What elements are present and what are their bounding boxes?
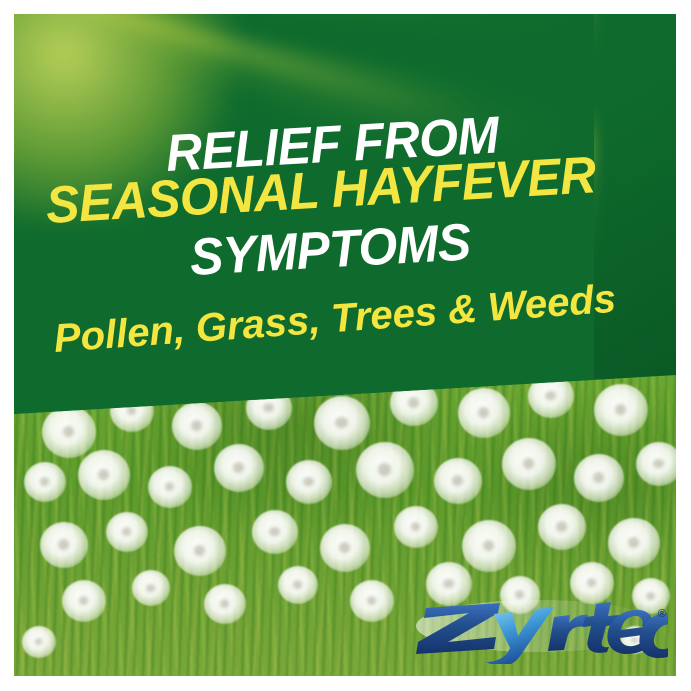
dandelion-puff [40,522,88,568]
dandelion-puff [24,462,66,502]
zyrtec-wordmark-icon [412,592,668,664]
dandelion-puff [286,460,332,504]
dandelion-puff [204,584,246,624]
dandelion-puff [214,444,264,492]
dandelion-puff [22,626,56,658]
registered-trademark-icon: ® [658,608,666,620]
dandelion-puff [106,512,148,552]
dandelion-puff [252,510,298,554]
dandelion-puff [608,518,660,568]
dandelion-puff [174,526,226,576]
dandelion-puff [148,466,192,508]
sun-glow-icon [14,14,234,224]
dandelion-puff [172,402,222,450]
dandelion-puff [320,524,370,572]
dandelion-puff [62,580,106,622]
dandelion-puff [350,580,394,622]
dandelion-puff [394,506,438,548]
dandelion-puff [314,396,370,450]
dandelion-puff [458,388,510,438]
green-headline-panel [14,14,676,424]
dandelion-puff [462,520,516,572]
dandelion-puff [538,504,586,550]
dandelion-puff [636,442,676,486]
zyrtec-logo: ® [412,592,668,664]
dandelion-puff [502,438,556,490]
dandelion-puff [434,458,482,504]
dandelion-puff [42,406,96,458]
dandelion-puff [278,566,318,604]
dandelion-puff [78,450,130,500]
dandelion-puff [574,454,624,502]
dandelion-puff [356,442,414,498]
dandelion-puff [132,570,170,606]
dandelion-puff [594,384,648,436]
artwork-frame: RELIEF FROM SEASONAL HAYFEVER SYMPTOMS P… [14,14,676,676]
advertisement-banner: RELIEF FROM SEASONAL HAYFEVER SYMPTOMS P… [0,0,691,691]
